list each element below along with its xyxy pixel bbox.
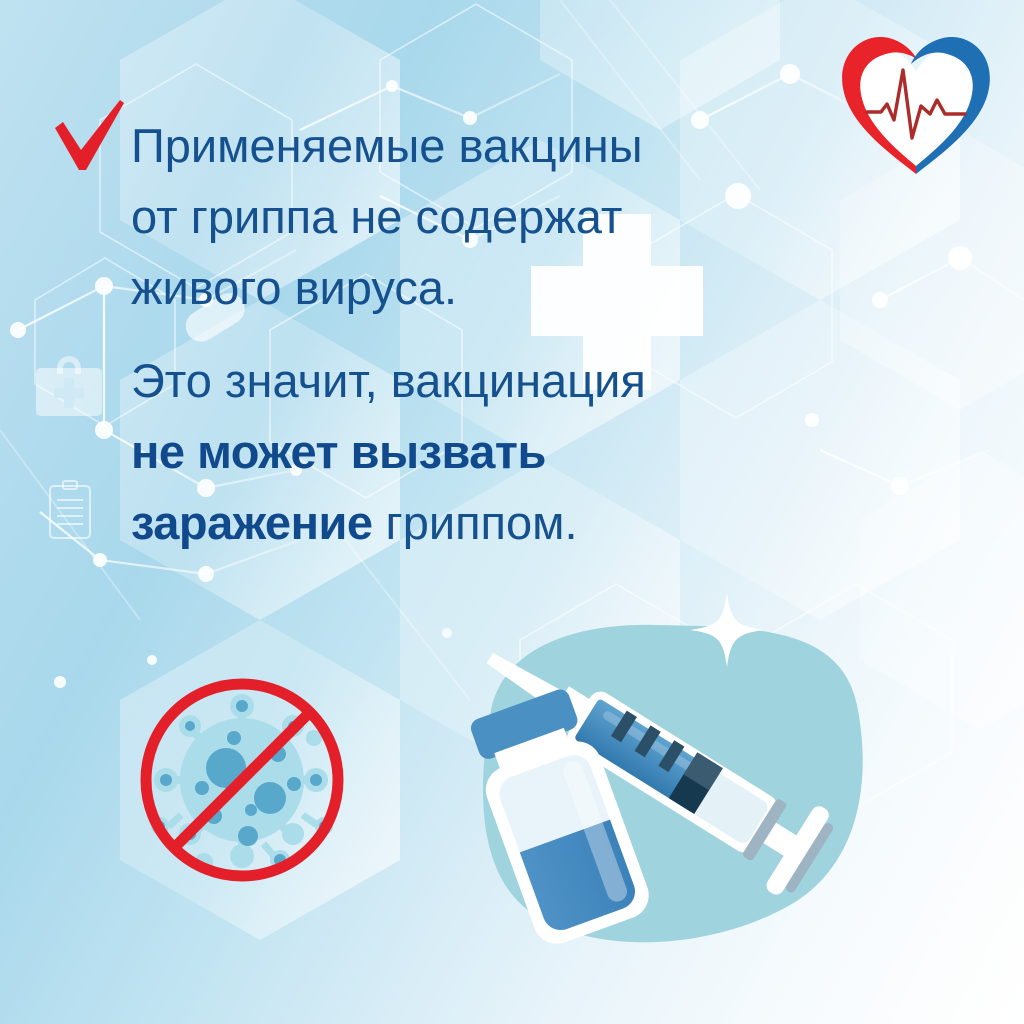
headline2-line-3-strong: заражение: [131, 496, 373, 549]
infographic-poster: Применяемые вакцины от гриппа не содержа…: [0, 0, 1024, 1024]
clipboard-icon: [50, 481, 90, 538]
headline-paragraph-1: Применяемые вакцины от гриппа не содержа…: [131, 110, 831, 323]
headline-paragraph-2: Это значит, вакцинация не может вызвать …: [131, 345, 831, 558]
heart-ecg-logo: [833, 26, 999, 178]
headline-line-2: от гриппа не содержат: [131, 181, 831, 252]
headline-line-3: живого вируса.: [131, 252, 831, 323]
heart-inner-white: [854, 49, 978, 168]
headline2-line-1: Это значит, вакцинация: [131, 345, 831, 416]
vaccine-illustration: [420, 565, 870, 965]
headline2-line-2-strong: не может вызвать: [131, 416, 831, 487]
no-virus-icon: [138, 676, 346, 884]
medical-bag-icon: [36, 356, 102, 416]
headline2-line-3: заражение гриппом.: [131, 487, 831, 558]
red-check-icon: [50, 98, 130, 178]
medical-bag-cross: [54, 378, 84, 408]
headline2-line-3-rest: гриппом.: [373, 496, 578, 549]
headline-line-1: Применяемые вакцины: [131, 110, 831, 181]
